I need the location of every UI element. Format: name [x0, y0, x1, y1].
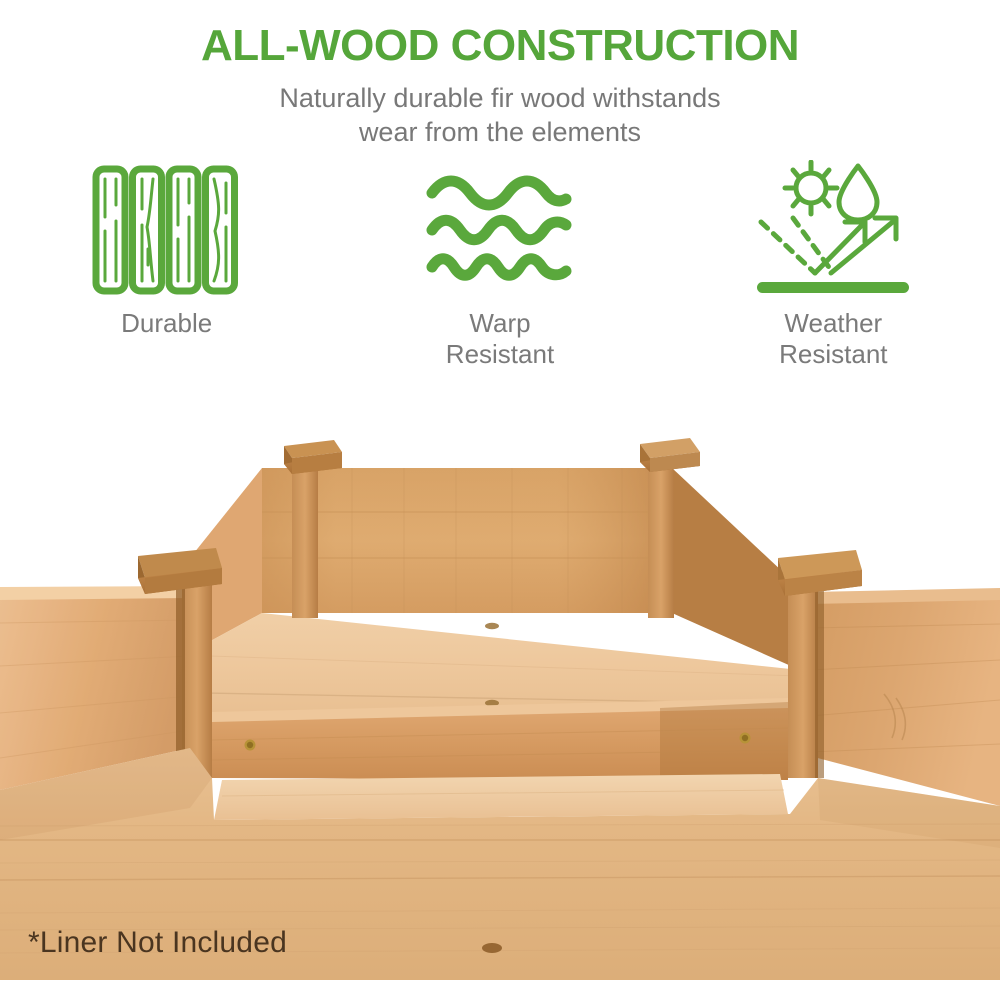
wavy-lines-icon — [425, 160, 575, 300]
feature-label-line-2: Resistant — [446, 339, 554, 370]
wood-planks-icon — [92, 160, 242, 300]
header-block: ALL-WOOD CONSTRUCTION Naturally durable … — [0, 0, 1000, 149]
feature-label-line-2: Resistant — [779, 339, 887, 370]
feature-label-durable: Durable — [121, 308, 212, 339]
feature-label-line-1: Durable — [121, 308, 212, 338]
page-title: ALL-WOOD CONSTRUCTION — [0, 0, 1000, 72]
product-photo — [0, 408, 1000, 980]
feature-label-line-1: Weather — [784, 308, 882, 338]
feature-weather-resistant: Weather Resistant — [667, 160, 1000, 400]
sun-rain-deflect-icon — [753, 160, 913, 300]
subtitle-line-1: Naturally durable fir wood withstands — [0, 81, 1000, 115]
product-feature-card: ALL-WOOD CONSTRUCTION Naturally durable … — [0, 0, 1000, 1000]
feature-durable: Durable — [0, 160, 333, 400]
feature-label-weather: Weather Resistant — [779, 308, 887, 370]
feature-label-line-1: Warp — [469, 308, 530, 338]
liner-disclaimer: *Liner Not Included — [28, 925, 287, 961]
subtitle: Naturally durable fir wood withstands we… — [0, 72, 1000, 149]
subtitle-line-2: wear from the elements — [0, 115, 1000, 149]
feature-warp-resistant: Warp Resistant — [333, 160, 666, 400]
feature-row: Durable Warp Resistant — [0, 160, 1000, 400]
feature-label-warp: Warp Resistant — [446, 308, 554, 370]
